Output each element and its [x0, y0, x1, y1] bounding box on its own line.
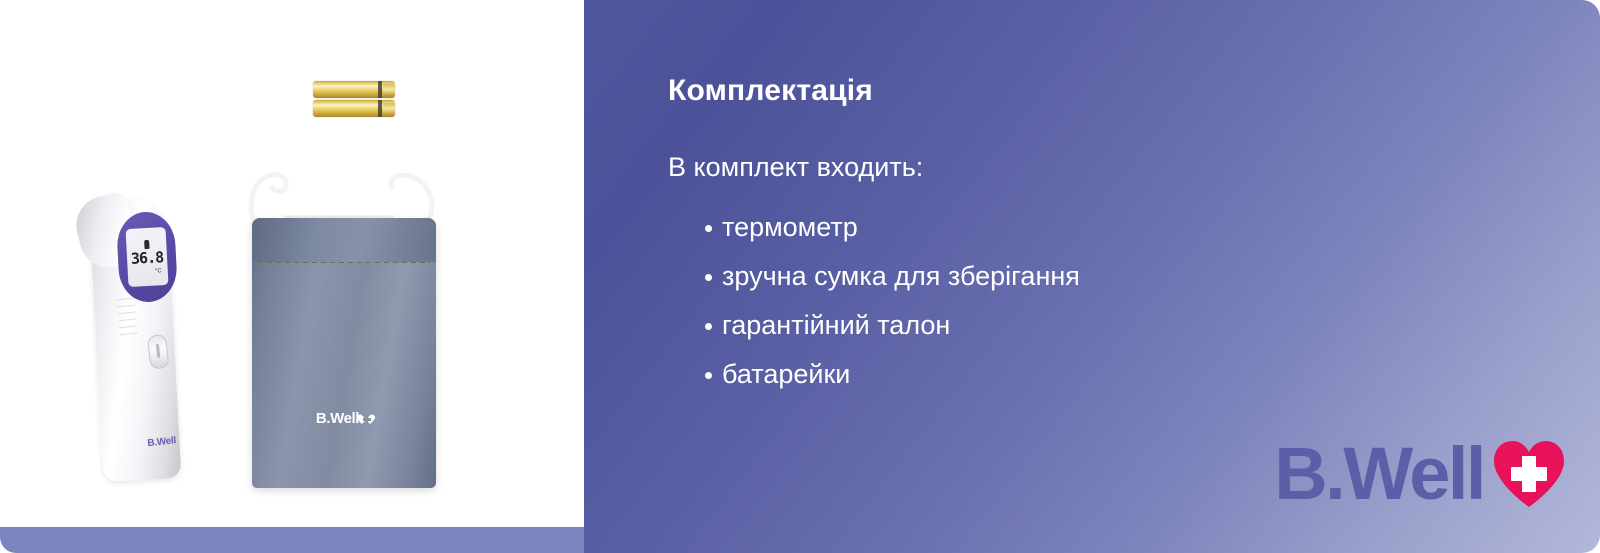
thermometer-reading: 36.8 — [131, 250, 164, 267]
panel-bottom-accent-bar — [0, 527, 584, 553]
heart-with-cross-icon — [1492, 439, 1566, 509]
pouch-heart-icon — [361, 413, 372, 424]
list-item: гарантійний талон — [668, 301, 1080, 350]
brand-logo: B.Well — [1274, 437, 1566, 511]
pouch-brand-text: B.Well — [316, 410, 359, 427]
battery-tip — [383, 103, 395, 114]
thermometer-brand-label: B.Well — [147, 435, 177, 449]
list-item: термометр — [668, 203, 1080, 252]
contents-list: термометр зручна сумка для зберігання га… — [668, 203, 1080, 399]
bullet-icon — [705, 225, 712, 232]
thermometer-mode-icon — [144, 239, 149, 248]
thermometer-screen-bezel: 36.8 °C — [116, 211, 179, 304]
battery-cap — [378, 81, 382, 98]
content-panel: Комплектація В комплект входить: термоме… — [584, 0, 1600, 553]
storage-pouch-image: B.Well — [242, 160, 442, 490]
thermometer-lcd-display: 36.8 °C — [126, 227, 169, 287]
thermometer-grip-lines — [116, 298, 140, 358]
battery-cap — [378, 100, 382, 117]
pouch-brand-label: B.Well — [252, 410, 436, 427]
battery-item — [313, 81, 395, 98]
product-photo-panel: B.Well 36.8 °C B.Well — [0, 0, 584, 553]
brand-wordmark: B.Well — [1274, 437, 1484, 511]
thermometer-image: B.Well 36.8 °C — [78, 190, 188, 480]
slide-root: B.Well 36.8 °C B.Well — [0, 0, 1600, 553]
pouch-seam — [258, 262, 430, 263]
pouch-body: B.Well — [252, 218, 436, 488]
pouch-top-fold — [252, 218, 436, 262]
bullet-icon — [705, 323, 712, 330]
list-item: батарейки — [668, 350, 1080, 399]
thermometer-unit-label: °C — [155, 268, 162, 274]
batteries-image — [313, 81, 395, 117]
thermometer-measure-button — [147, 334, 169, 370]
battery-tip — [383, 84, 395, 95]
list-item-label: гарантійний талон — [722, 310, 950, 340]
list-item-label: термометр — [722, 212, 858, 242]
list-item: зручна сумка для зберігання — [668, 252, 1080, 301]
battery-item — [313, 100, 395, 117]
bullet-icon — [705, 372, 712, 379]
page-title: Комплектація — [668, 74, 873, 108]
list-item-label: зручна сумка для зберігання — [722, 261, 1080, 291]
bullet-icon — [705, 274, 712, 281]
intro-text: В комплект входить: — [668, 152, 923, 183]
list-item-label: батарейки — [722, 359, 850, 389]
